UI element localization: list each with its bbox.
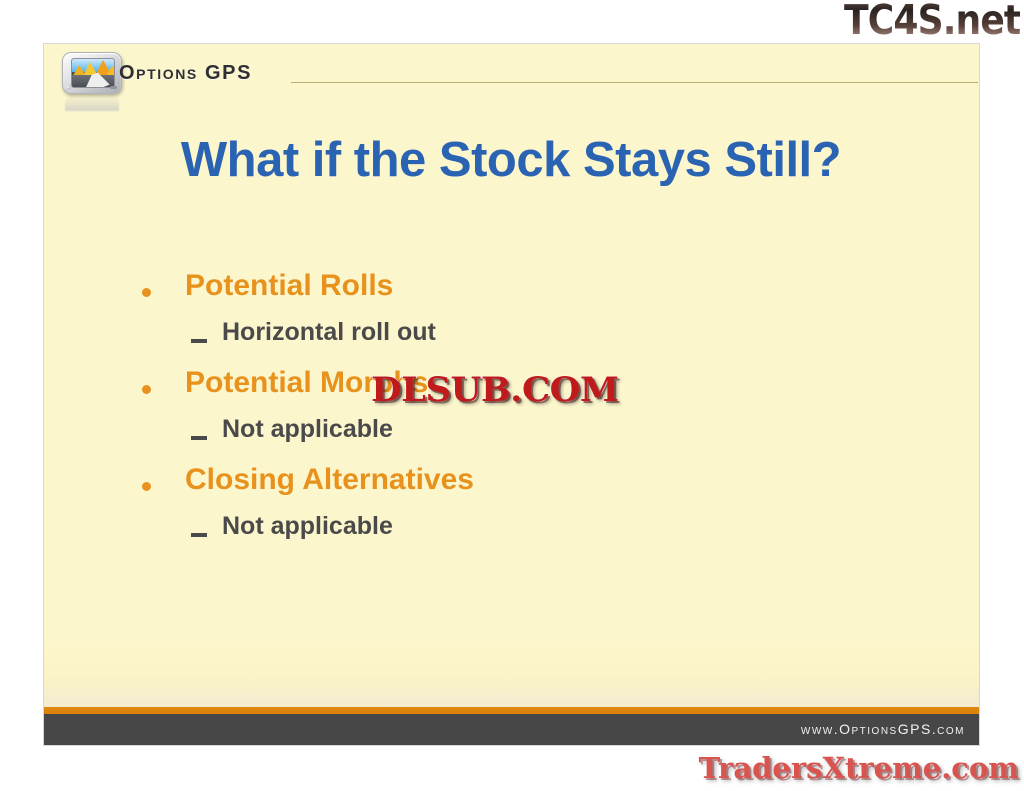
- slide-header: Options GPS: [44, 44, 979, 106]
- slide-footer: www.OptionsGPS.com: [44, 714, 979, 745]
- bullet-level1-label: Potential Rolls: [185, 269, 393, 303]
- bullet-list: Potential Rolls Horizontal roll out Pote…: [96, 269, 946, 560]
- gps-device-reflection: [65, 95, 119, 111]
- bullet-dash-icon: [191, 339, 207, 343]
- bullet-dot-icon: [142, 482, 151, 491]
- watermark-dlsub: DLSUB.COM: [371, 370, 619, 410]
- gps-button-right: [110, 86, 117, 89]
- bullet-dot-icon: [142, 288, 151, 297]
- logo-text: Options GPS: [119, 62, 252, 85]
- gps-button-left: [66, 85, 71, 90]
- gps-device-body: [62, 52, 122, 94]
- screenshot-canvas: TC4S.net: [0, 0, 1024, 791]
- footer-accent-bar: [44, 707, 979, 714]
- bullet-level1-label: Closing Alternatives: [185, 463, 474, 497]
- list-item: Potential Rolls: [96, 269, 946, 318]
- bullet-dash-icon: [191, 436, 207, 440]
- list-item: Not applicable: [96, 512, 946, 560]
- list-item: Not applicable: [96, 415, 946, 463]
- page-title: What if the Stock Stays Still?: [80, 132, 942, 188]
- bullet-dash-icon: [191, 533, 207, 537]
- watermark-tradersxtreme: TradersXtreme.com: [699, 751, 1019, 785]
- watermark-tc4s: TC4S.net: [844, 0, 1020, 44]
- bullet-level2-label: Not applicable: [222, 415, 393, 444]
- list-item: Closing Alternatives: [96, 463, 946, 512]
- bullet-level2-label: Not applicable: [222, 512, 393, 541]
- footer-url-label: www.OptionsGPS.com: [801, 721, 965, 737]
- header-divider: [291, 82, 978, 83]
- bullet-level2-label: Horizontal roll out: [222, 318, 436, 347]
- bullet-dot-icon: [142, 385, 151, 394]
- list-item: Horizontal roll out: [96, 318, 946, 366]
- gps-screen: [71, 58, 115, 88]
